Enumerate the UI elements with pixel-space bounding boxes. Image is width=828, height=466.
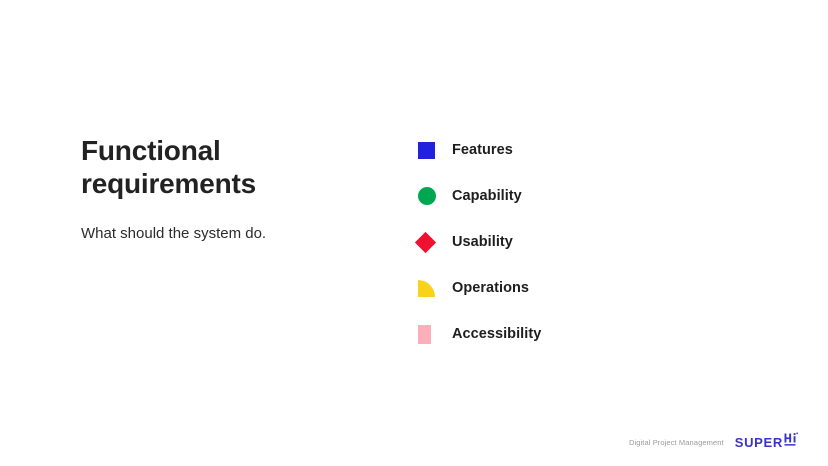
text-column: Functional requirements What should the … <box>81 134 381 245</box>
brand-logo: SUPER <box>735 432 800 452</box>
legend-item-label: Usability <box>452 234 513 250</box>
list-item: Capability <box>418 182 541 210</box>
page-title: Functional requirements <box>81 134 381 200</box>
legend-item-label: Features <box>452 142 513 158</box>
rectangle-icon <box>418 325 452 344</box>
square-icon <box>418 142 452 159</box>
list-item: Usability <box>418 228 541 256</box>
page-subtitle: What should the system do. <box>81 200 381 245</box>
list-item: Features <box>418 136 541 164</box>
legend-item-label: Capability <box>452 188 522 204</box>
list-item: Accessibility <box>418 320 541 348</box>
brand-wordmark: SUPER <box>735 435 783 450</box>
list-item: Operations <box>418 274 541 302</box>
slide: Functional requirements What should the … <box>0 0 828 466</box>
hi-logo-mark-icon <box>784 432 800 452</box>
footer: Digital Project Management SUPER <box>629 432 800 452</box>
diamond-icon <box>418 235 452 250</box>
legend-item-label: Operations <box>452 280 529 296</box>
quarter-circle-icon <box>418 280 452 297</box>
footer-caption: Digital Project Management <box>629 438 724 447</box>
legend-item-label: Accessibility <box>452 326 541 342</box>
circle-icon <box>418 187 452 205</box>
legend-list: Features Capability Usability Operations <box>418 136 541 348</box>
